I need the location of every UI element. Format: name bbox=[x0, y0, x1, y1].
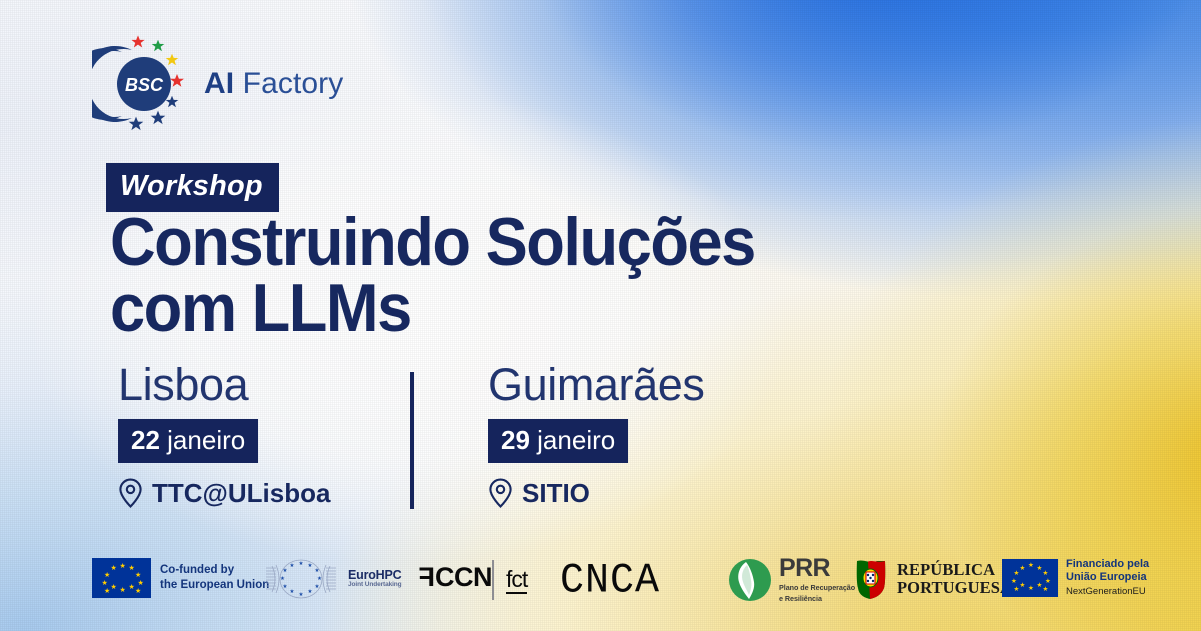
svg-text:★: ★ bbox=[289, 562, 294, 569]
eu-cofunded-label: Co-funded by the European Union bbox=[160, 563, 269, 593]
page-title: Construindo Soluções com LLMs bbox=[110, 210, 928, 342]
svg-text:★: ★ bbox=[289, 588, 294, 595]
logo-financiado-ue: ★ ★ ★ ★ ★ ★ ★ ★ ★ ★ ★ ★ Financiado pela … bbox=[1002, 558, 1149, 598]
date-day: 29 bbox=[501, 425, 530, 455]
fct-wordmark: fct bbox=[506, 568, 527, 594]
fccn-wordmark: FCCN bbox=[419, 564, 492, 591]
city-name: Lisboa bbox=[118, 362, 330, 407]
eu-flag-icon: ★ ★ ★ ★ ★ ★ ★ ★ ★ ★ ★ ★ bbox=[1002, 559, 1058, 597]
logo-fccn: FCCN bbox=[419, 564, 492, 591]
republica-label: REPÚBLICA PORTUGUESA bbox=[897, 561, 1012, 598]
logo-republica-portuguesa: REPÚBLICA PORTUGUESA bbox=[855, 558, 1012, 600]
logo-separator bbox=[492, 560, 494, 600]
svg-text:★: ★ bbox=[314, 583, 319, 590]
eu-cofunded-line-1: Co-funded by bbox=[160, 563, 269, 578]
svg-text:★: ★ bbox=[317, 575, 322, 582]
date-badge: 22 janeiro bbox=[118, 419, 258, 463]
financiado-label: Financiado pela União Europeia NextGener… bbox=[1066, 558, 1149, 598]
city-divider bbox=[410, 372, 414, 509]
location-pin-icon bbox=[118, 478, 143, 508]
eurohpc-line-2: Joint Undertaking bbox=[348, 582, 402, 589]
svg-text:★: ★ bbox=[307, 588, 312, 595]
poster-content: BSC AI Factory Workshop bbox=[0, 0, 1201, 631]
logo-cnca: CNCA bbox=[560, 562, 660, 602]
ai-factory-bold: AI bbox=[204, 67, 234, 100]
eurohpc-emblem-icon: ★ ★ ★ ★ ★ ★ ★ ★ ★ ★ ★ ★ bbox=[262, 558, 340, 600]
prr-line-3: e Resiliência bbox=[779, 594, 855, 603]
svg-text:★: ★ bbox=[298, 560, 303, 567]
logo-eu-cofunded: ★ ★ ★ ★ ★ ★ ★ ★ ★ ★ ★ ★ Co-funded by the… bbox=[92, 558, 269, 598]
fccn-label-rest: CCN bbox=[435, 562, 492, 592]
city-name: Guimarães bbox=[488, 362, 704, 407]
eu-cofunded-line-2: the European Union bbox=[160, 578, 269, 593]
svg-text:★: ★ bbox=[307, 562, 312, 569]
cnca-wordmark: CNCA bbox=[560, 561, 660, 603]
date-day: 22 bbox=[131, 425, 160, 455]
logo-fct: fct bbox=[506, 568, 527, 594]
city-block-lisboa: Lisboa 22 janeiro TTC@ULisboa bbox=[118, 362, 330, 508]
bsc-logo-icon: BSC bbox=[92, 34, 190, 134]
prr-line-1: PRR bbox=[779, 556, 855, 581]
location-pin-icon bbox=[488, 478, 513, 508]
financiado-line-1: Financiado pela bbox=[1066, 558, 1149, 571]
city-sessions: Lisboa 22 janeiro TTC@ULisboa Guimarães bbox=[110, 362, 870, 522]
logo-eurohpc: ★ ★ ★ ★ ★ ★ ★ ★ ★ ★ ★ ★ bbox=[262, 558, 402, 600]
brand-lockup: BSC AI Factory bbox=[92, 34, 343, 134]
title-line-1: Construindo Soluções bbox=[110, 204, 755, 280]
prr-globe-icon bbox=[728, 558, 772, 602]
financiado-line-3: NextGenerationEU bbox=[1066, 586, 1149, 598]
ai-factory-rest: Factory bbox=[234, 67, 343, 100]
venue-name: SITIO bbox=[522, 480, 590, 506]
financiado-line-2: União Europeia bbox=[1066, 571, 1149, 584]
eurohpc-label: EuroHPC Joint Undertaking bbox=[348, 569, 402, 589]
republica-line-2: PORTUGUESA bbox=[897, 579, 1012, 597]
portugal-shield-icon bbox=[855, 558, 889, 600]
date-badge: 29 janeiro bbox=[488, 419, 628, 463]
svg-text:BSC: BSC bbox=[125, 75, 164, 95]
svg-text:★: ★ bbox=[282, 567, 287, 574]
sponsor-logo-bar: ★ ★ ★ ★ ★ ★ ★ ★ ★ ★ ★ ★ Co-funded by the… bbox=[0, 552, 1201, 610]
event-poster: BSC AI Factory Workshop bbox=[0, 0, 1201, 631]
prr-line-2: Plano de Recuperação bbox=[779, 583, 855, 592]
date-month: janeiro bbox=[167, 425, 245, 455]
venue-row: TTC@ULisboa bbox=[118, 478, 330, 508]
svg-text:★: ★ bbox=[314, 567, 319, 574]
svg-text:★: ★ bbox=[280, 575, 285, 582]
svg-text:★: ★ bbox=[282, 583, 287, 590]
svg-text:★: ★ bbox=[298, 591, 303, 598]
venue-row: SITIO bbox=[488, 478, 704, 508]
eu-flag-icon: ★ ★ ★ ★ ★ ★ ★ ★ ★ ★ ★ ★ bbox=[92, 558, 151, 598]
logo-prr: PRR Plano de Recuperação e Resiliência bbox=[728, 556, 855, 603]
prr-label: PRR Plano de Recuperação e Resiliência bbox=[779, 556, 855, 603]
date-month: janeiro bbox=[537, 425, 615, 455]
title-line-2: com LLMs bbox=[110, 276, 928, 342]
city-block-guimaraes: Guimarães 29 janeiro SITIO bbox=[488, 362, 704, 508]
ai-factory-wordmark: AI Factory bbox=[204, 69, 343, 99]
republica-line-1: REPÚBLICA bbox=[897, 561, 1012, 579]
venue-name: TTC@ULisboa bbox=[152, 480, 330, 506]
